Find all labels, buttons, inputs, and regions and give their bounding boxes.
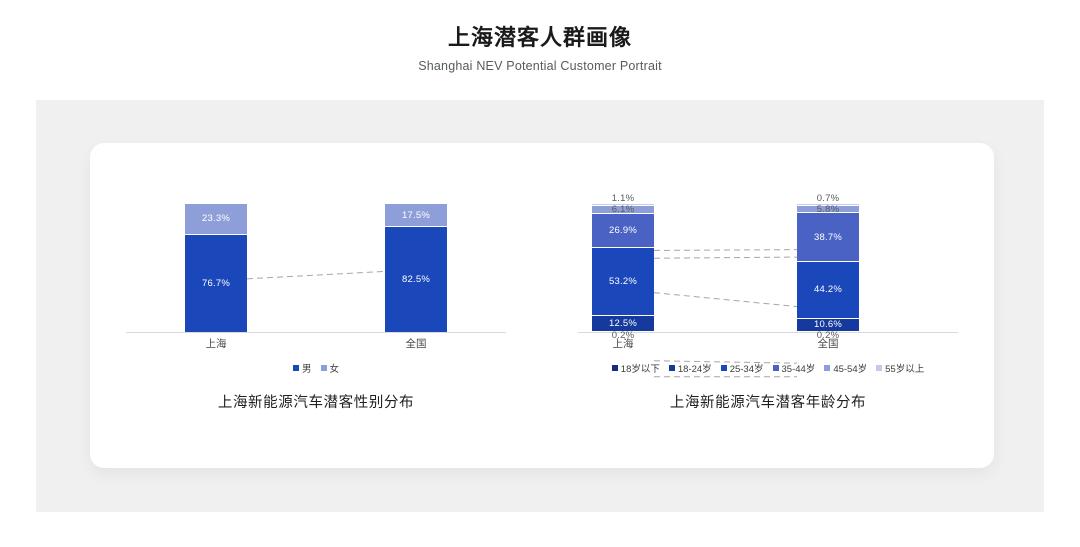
g-segment-label: 76.7% [202,278,230,289]
a-legend-label: 55岁以上 [885,361,924,375]
a-legend-label: 35-44岁 [782,361,816,375]
g-segment[interactable]: 82.5% [385,226,447,332]
a-segment[interactable]: 12.5% [592,315,654,331]
gender-legend: 男女 [90,361,542,375]
gender-plot-area: 23.3%76.7% 17.5%82.5% [90,188,542,333]
page-header: 上海潜客人群画像 Shanghai NEV Potential Customer… [0,0,1080,73]
a-segment-label: 0.7% [817,193,839,204]
gender-bar-shanghai[interactable]: 23.3%76.7% [185,204,247,332]
g-segment[interactable]: 17.5% [385,204,447,226]
legend-swatch-icon [773,365,779,371]
age-legend: 18岁以下18-24岁25-34岁35-44岁45-54岁55岁以上 [542,361,994,375]
age-chart-caption: 上海新能源汽车潜客年龄分布 [542,391,994,412]
legend-swatch-icon [721,365,727,371]
page-subtitle: Shanghai NEV Potential Customer Portrait [0,59,1080,73]
a-segment[interactable]: 6.1% [592,205,654,213]
g-legend-label: 女 [330,361,340,375]
legend-swatch-icon [321,365,327,371]
legend-swatch-icon [669,365,675,371]
age-plot-area: 1.1%6.1%26.9%53.2%12.5%0.2% 0.7%5.8%38.7… [542,188,994,333]
gender-chart: 23.3%76.7% 17.5%82.5% 上海 全国 男女 上海新能源汽车潜客… [90,143,542,468]
a-legend-item[interactable]: 18-24岁 [669,361,712,375]
age-bar-shanghai[interactable]: 1.1%6.1%26.9%53.2%12.5%0.2% [592,204,654,332]
gender-axis-line [126,332,506,333]
a-segment-label: 12.5% [609,318,637,329]
legend-swatch-icon [876,365,882,371]
age-category-label-shanghai: 上海 [583,336,663,351]
age-axis-line [578,332,958,333]
g-segment[interactable]: 23.3% [185,204,247,234]
gender-category-label-national: 全国 [376,336,456,351]
connector-line [654,257,797,258]
a-legend-label: 18岁以下 [621,361,660,375]
a-segment-label: 44.2% [814,284,842,295]
connector-line [654,250,797,251]
age-bar-national[interactable]: 0.7%5.8%38.7%44.2%10.6%0.2% [797,204,859,332]
a-segment-label: 1.1% [612,193,634,204]
a-segment[interactable]: 0.2% [592,331,654,332]
connector-line [247,271,385,278]
a-legend-label: 25-34岁 [730,361,764,375]
legend-swatch-icon [824,365,830,371]
g-segment-label: 23.3% [202,213,230,224]
legend-swatch-icon [293,365,299,371]
a-segment[interactable]: 44.2% [797,261,859,317]
a-segment-label: 53.2% [609,276,637,287]
a-legend-item[interactable]: 18岁以下 [612,361,660,375]
g-legend-label: 男 [302,361,312,375]
connector-line [654,293,797,307]
g-legend-item[interactable]: 女 [321,361,340,375]
a-segment[interactable]: 38.7% [797,212,859,261]
a-legend-item[interactable]: 45-54岁 [824,361,867,375]
charts-row: 23.3%76.7% 17.5%82.5% 上海 全国 男女 上海新能源汽车潜客… [90,143,994,468]
gender-connector-lines [90,233,542,378]
a-legend-item[interactable]: 25-34岁 [721,361,764,375]
g-segment-label: 82.5% [402,274,430,285]
a-segment-label: 26.9% [609,225,637,236]
age-chart: 1.1%6.1%26.9%53.2%12.5%0.2% 0.7%5.8%38.7… [542,143,994,468]
gender-chart-caption: 上海新能源汽车潜客性别分布 [90,391,542,412]
a-segment[interactable]: 5.8% [797,205,859,212]
a-legend-item[interactable]: 35-44岁 [773,361,816,375]
a-segment-label: 38.7% [814,232,842,243]
a-segment[interactable]: 0.2% [797,331,859,332]
a-legend-label: 18-24岁 [678,361,712,375]
a-segment[interactable]: 10.6% [797,318,859,331]
g-segment[interactable]: 76.7% [185,234,247,332]
a-segment-label: 10.6% [814,319,842,330]
a-legend-label: 45-54岁 [833,361,867,375]
g-segment-label: 17.5% [402,210,430,221]
age-category-label-national: 全国 [788,336,868,351]
a-segment[interactable]: 53.2% [592,247,654,315]
gender-bar-national[interactable]: 17.5%82.5% [385,204,447,332]
page-title: 上海潜客人群画像 [0,24,1080,52]
gender-category-label-shanghai: 上海 [176,336,256,351]
a-segment[interactable]: 26.9% [592,213,654,247]
a-legend-item[interactable]: 55岁以上 [876,361,924,375]
legend-swatch-icon [612,365,618,371]
g-legend-item[interactable]: 男 [293,361,312,375]
